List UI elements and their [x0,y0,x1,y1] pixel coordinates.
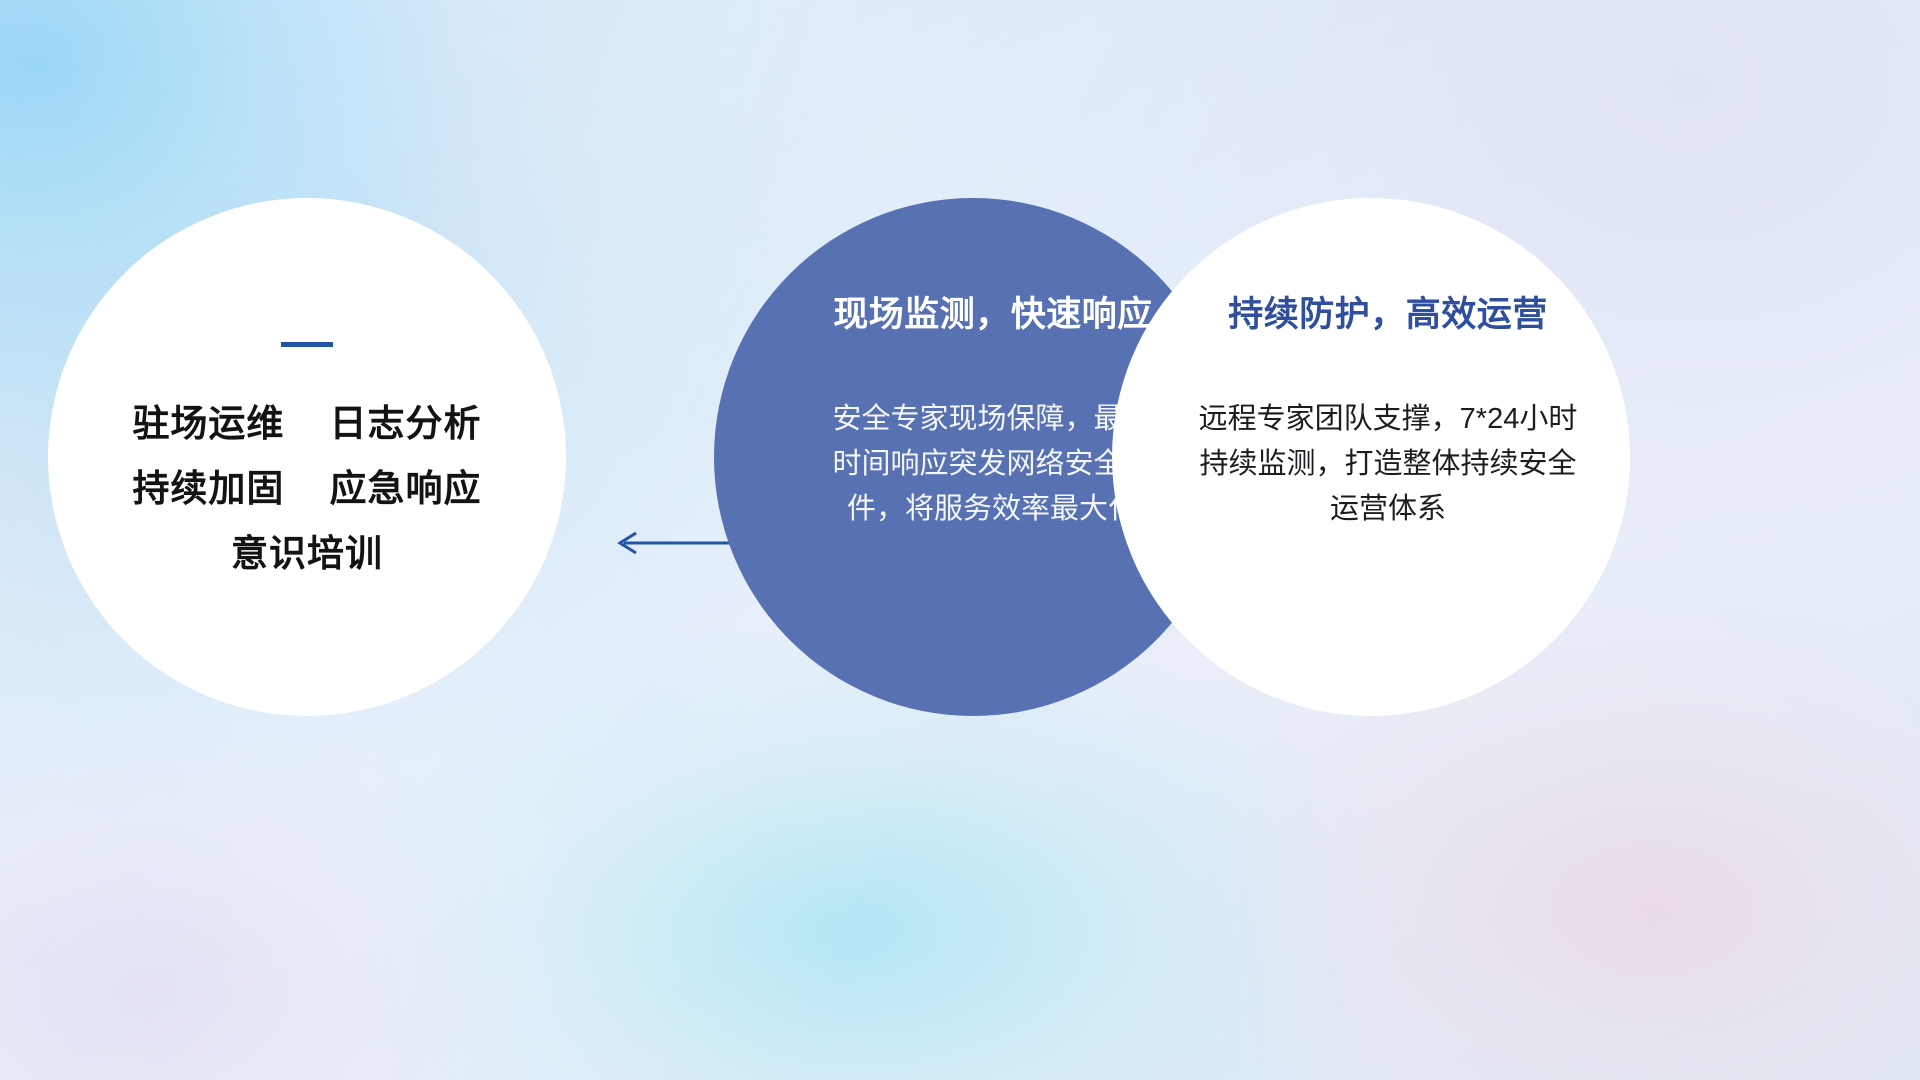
accent-divider-rule [281,342,333,347]
middle-circle-title: 现场监测，快速响应 [833,286,1153,337]
slide-canvas: 驻场运维 日志分析 持续加固 应急响应 意识培训 现场监测，快速响应 安全专家现… [0,0,1920,1080]
left-capability-circle[interactable]: 驻场运维 日志分析 持续加固 应急响应 意识培训 [48,198,566,716]
left-keyword-line-2: 持续加固 应急响应 [132,470,481,507]
right-circle-content: 持续防护，高效运营 远程专家团队支撑，7*24小时持续监测，打造整体持续安全运营… [1112,198,1630,716]
right-circle-title: 持续防护，高效运营 [1228,286,1548,337]
left-circle-content: 驻场运维 日志分析 持续加固 应急响应 意识培训 [48,198,566,716]
left-keyword-line-3: 意识培训 [231,535,383,572]
right-circle-body: 远程专家团队支撑，7*24小时持续监测，打造整体持续安全运营体系 [1188,397,1588,532]
left-keyword-line-1: 驻场运维 日志分析 [132,405,481,442]
middle-circle-body: 安全专家现场保障，最短时间响应突发网络安全事件，将服务效率最大化 [827,397,1157,532]
right-operations-circle[interactable]: 持续防护，高效运营 远程专家团队支撑，7*24小时持续监测，打造整体持续安全运营… [1112,198,1630,716]
